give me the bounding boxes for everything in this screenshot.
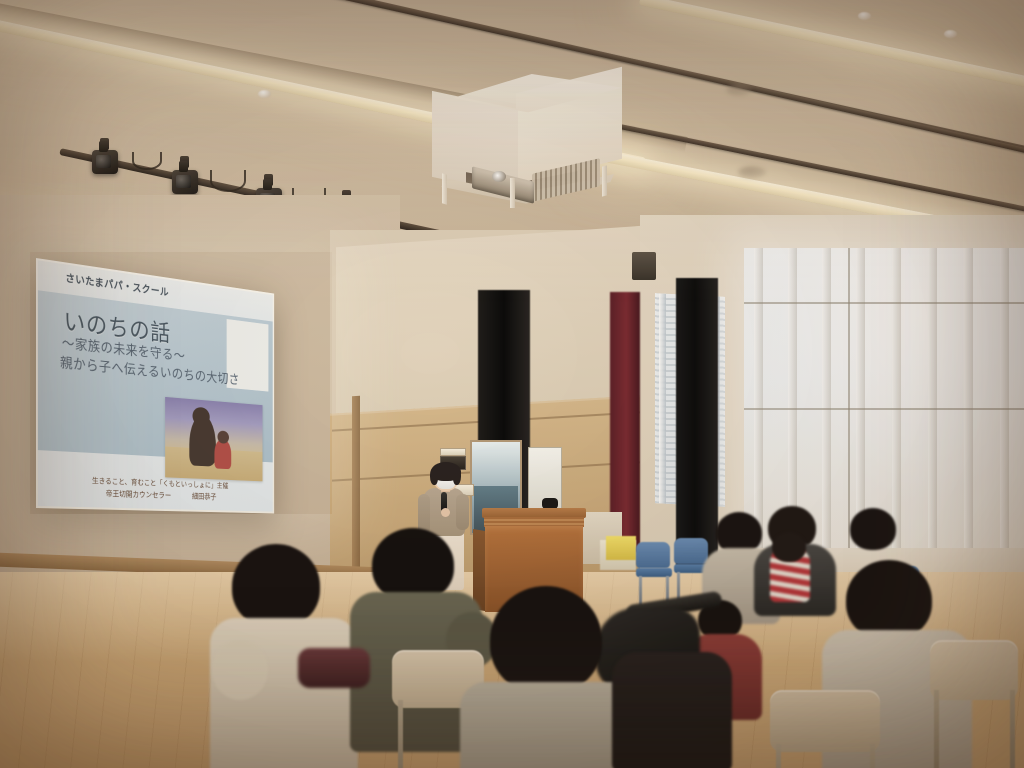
folding-chair-frame-left [776,744,781,768]
ceiling-dome-light-1 [858,12,871,20]
presenter-hand [441,508,450,517]
folding-chair-back [770,690,880,752]
slide-footer-name: 細田恭子 [192,492,216,501]
slide-footer-speaker: 帝王切開カウンセラー細田恭子 [106,488,217,502]
curtain-dark-left [676,278,718,578]
folding-chair-frame-left [934,690,939,768]
presenter-arm-right [456,494,469,530]
window-blind-2 [788,248,797,548]
window-mullion-vertical [848,248,850,548]
attendee-head [372,528,454,602]
window-mullion-horizontal-2 [744,408,1024,410]
lighting-cable-2 [210,170,246,192]
projection-screen: さいたまパパ・スクール いのちの話 〜家族の未来を守る〜 親から子へ伝えるいのち… [36,258,274,513]
blue-chair-back [636,542,670,568]
presenter-hair-left [430,468,438,485]
bag-on-chair [298,648,370,688]
window-blind-5 [892,248,901,548]
attendee-head [232,544,320,628]
attendee-head [846,560,932,640]
presentation-slide: さいたまパパ・スクール いのちの話 〜家族の未来を守る〜 親から子へ伝えるいのち… [38,260,273,511]
stage-light-2 [172,170,198,194]
slide-photo-parent-and-child [165,397,262,481]
folding-chair-frame-right [1010,690,1015,768]
window-blind-8 [1000,248,1009,548]
photo-scene: さいたまパパ・スクール いのちの話 〜家族の未来を守る〜 親から子へ伝えるいのち… [0,0,1024,768]
folding-chair-frame-left [398,700,403,768]
window-blind-7 [964,248,973,548]
projector-support-leg-3 [602,165,607,196]
slide-footer-role: 帝王切開カウンセラー [106,489,171,500]
window-blind-4 [856,248,865,548]
window-blind-3 [822,248,831,548]
attendee-torso [612,652,732,768]
folding-chair-back [930,640,1018,700]
lectern-side-panel [473,529,485,611]
ceiling-smoke-detector [258,90,271,98]
folding-chair-frame-right [870,744,875,768]
window-blind-1 [754,248,763,548]
pamphlet-yellow [606,536,636,560]
attendee-shoulder-left [212,640,268,700]
stage-light-1 [92,150,118,174]
blue-chair-back [674,538,708,564]
window-mullion-horizontal-1 [744,302,1024,304]
presenter-hair-right [453,468,461,485]
window-daylight-glow [744,248,1024,548]
slide-photo-child-silhouette [214,439,231,469]
slide-photo-adult-head [192,407,209,427]
window-left-blind-1 [659,293,666,503]
window-main [744,248,1024,548]
attendee-head [490,586,602,694]
ceiling-dome-light-2 [944,30,957,38]
lighting-cable-1 [132,152,162,170]
slide-photo-child-head [217,430,228,443]
ceiling-vent-1 [726,84,752,96]
ceiling-vent-2 [738,166,766,178]
window-blind-6 [928,248,937,548]
wall-speaker [632,252,656,280]
wall-sign-light [440,448,466,456]
child-head [772,532,806,562]
